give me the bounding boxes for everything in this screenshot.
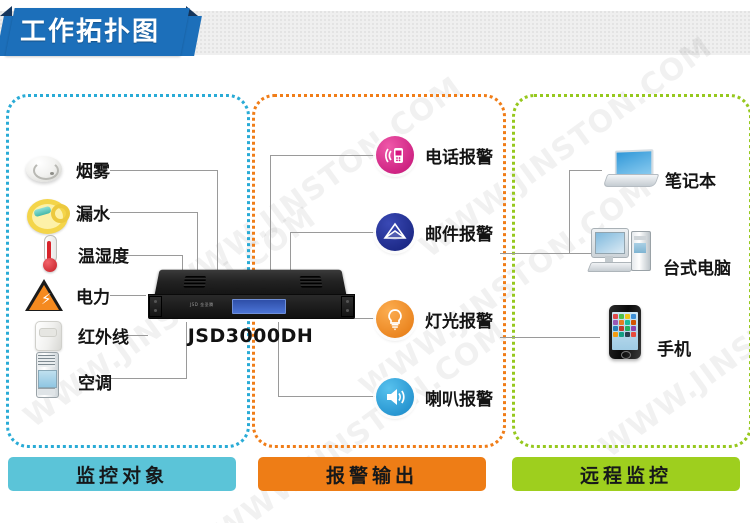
alarm-item-label: 电话报警	[425, 143, 493, 168]
footer-label-remote[interactable]: 远程监控	[512, 457, 740, 491]
ribbon-fold-left-icon	[0, 6, 12, 16]
connector-light	[353, 318, 375, 319]
connector-hub-right	[500, 253, 570, 254]
connector-power	[110, 295, 146, 296]
device-rack-ear-right	[341, 296, 354, 317]
monitor-item-label: 电力	[76, 283, 110, 308]
device-vent-icon	[300, 276, 323, 288]
alarm-item-label: 灯光报警	[425, 307, 493, 332]
connector-desktop	[569, 253, 591, 254]
thermometer-icon	[30, 234, 70, 274]
speaker-alarm-icon	[376, 378, 414, 416]
desktop-computer-icon	[589, 227, 659, 277]
alarm-host-device: JSD 金圣腾	[148, 264, 353, 320]
device-vent-icon	[183, 276, 206, 288]
light-alarm-icon	[376, 300, 414, 338]
monitor-item-label: 空调	[78, 369, 112, 394]
monitor-item-air-conditioner[interactable]: 空调	[26, 352, 112, 396]
connector-phone	[270, 155, 375, 156]
remote-item-laptop[interactable]: 笔记本	[601, 145, 716, 192]
alarm-item-email[interactable]: 邮件报警	[376, 213, 493, 251]
device-model-label: JSD3000DH	[148, 325, 353, 347]
page-title: 工作拓扑图	[20, 12, 190, 52]
remote-item-desktop[interactable]: 台式电脑	[589, 224, 731, 279]
mobile-phone-icon	[609, 305, 641, 359]
monitor-item-smoke[interactable]: 烟雾	[24, 152, 110, 186]
alarm-item-label: 邮件报警	[425, 220, 493, 245]
monitor-item-water-leak[interactable]: 漏水	[24, 196, 110, 228]
remote-item-label: 笔记本	[665, 167, 716, 192]
footer-label-monitor[interactable]: 监控对象	[8, 457, 236, 491]
monitor-item-label: 红外线	[78, 323, 129, 348]
monitor-item-power[interactable]: ⚡ 电力	[24, 278, 110, 312]
smoke-detector-icon	[24, 152, 64, 186]
connector-phone-device	[500, 337, 600, 338]
topology-diagram-page: 工作拓扑图 WWW.JINSTON.COM WWW.JINSTON.COM WW…	[0, 0, 750, 523]
monitor-item-label: 烟雾	[76, 157, 110, 182]
connector-laptop	[569, 170, 602, 171]
air-conditioner-icon	[26, 352, 66, 396]
alarm-item-label: 喇叭报警	[425, 385, 493, 410]
connector-water	[110, 212, 198, 213]
alarm-item-phone[interactable]: 电话报警	[376, 136, 493, 174]
alarm-item-speaker[interactable]: 喇叭报警	[376, 378, 493, 416]
email-alarm-icon	[376, 213, 414, 251]
alarm-item-light[interactable]: 灯光报警	[376, 300, 493, 338]
device-rack-ear-left	[149, 296, 162, 317]
monitor-item-label: 温湿度	[78, 242, 129, 267]
connector-water-vertical	[197, 212, 198, 270]
infrared-sensor-icon	[28, 320, 68, 350]
power-warning-icon: ⚡	[24, 278, 64, 312]
remote-item-mobile[interactable]: 手机	[609, 303, 691, 360]
laptop-icon	[601, 149, 657, 189]
connector-smoke-vertical	[217, 170, 218, 270]
monitor-item-temp-humidity[interactable]: 温湿度	[30, 234, 129, 274]
connector-ac	[110, 378, 186, 379]
connector-smoke	[110, 170, 218, 171]
remote-item-label: 台式电脑	[663, 254, 731, 279]
footer-label-alarm[interactable]: 报警输出	[258, 457, 486, 491]
water-leak-sensor-icon	[24, 196, 64, 228]
monitor-item-label: 漏水	[76, 200, 110, 225]
device-brand-mark: JSD 金圣腾	[190, 302, 214, 308]
connector-phone-vertical	[270, 155, 271, 271]
monitor-item-infrared[interactable]: 红外线	[28, 320, 129, 350]
phone-alarm-icon	[376, 136, 414, 174]
connector-email	[290, 232, 375, 233]
device-lcd-screen	[232, 299, 286, 314]
remote-item-label: 手机	[657, 335, 691, 360]
connector-laptop-vertical	[569, 170, 570, 254]
connector-speaker	[278, 396, 375, 397]
